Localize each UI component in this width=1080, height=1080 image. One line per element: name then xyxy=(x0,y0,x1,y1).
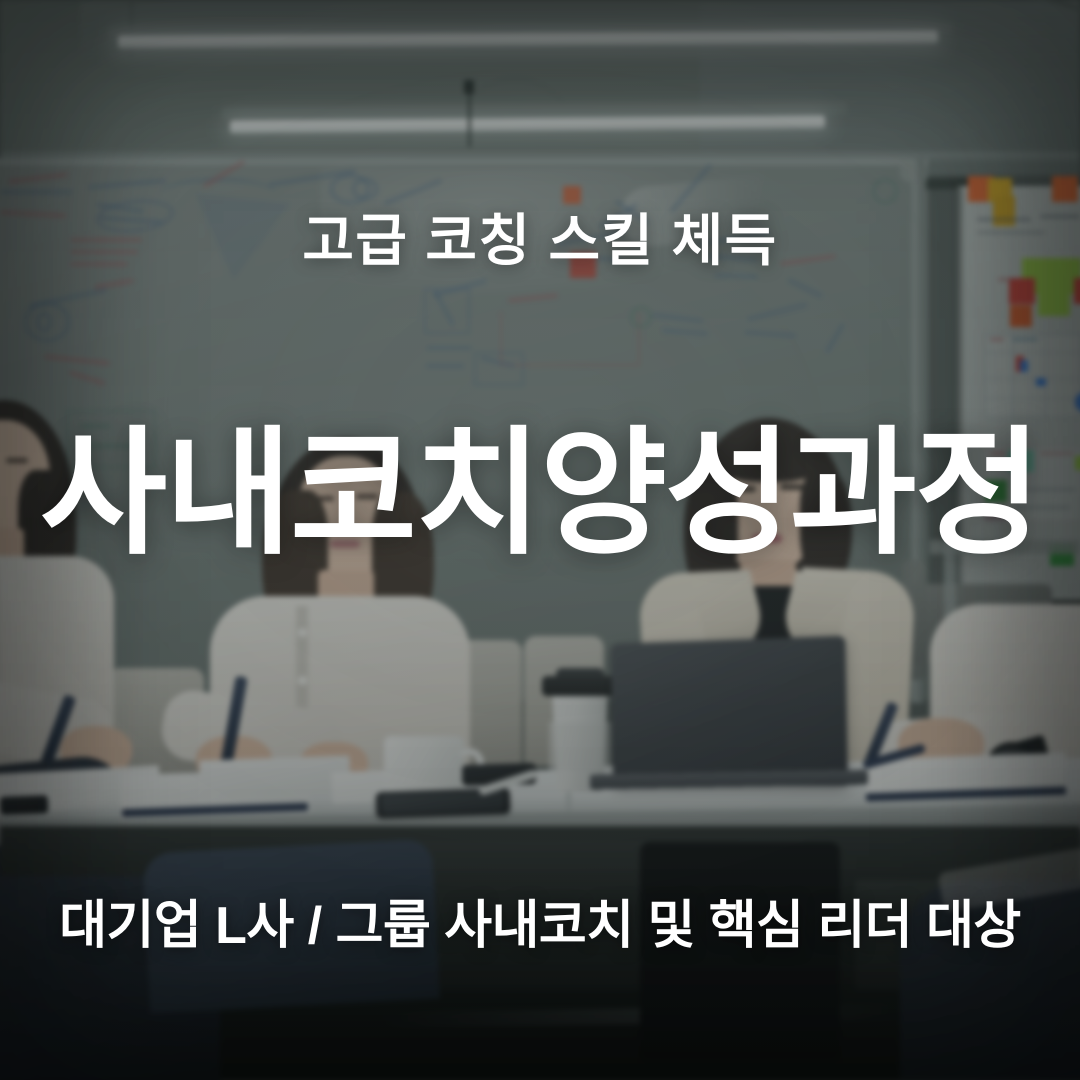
target-audience-text: 대기업 L사 / 그룹 사내코치 및 핵심 리더 대상 xyxy=(0,897,1080,957)
headline-title: 사내코치양성과정 xyxy=(0,422,1080,567)
poster-root: 고급 코칭 스킬 체득 사내코치양성과정 대기업 L사 / 그룹 사내코치 및 … xyxy=(0,0,1080,1080)
eyebrow-text: 고급 코칭 스킬 체득 xyxy=(0,210,1080,273)
text-overlay: 고급 코칭 스킬 체득 사내코치양성과정 대기업 L사 / 그룹 사내코치 및 … xyxy=(0,0,1080,1080)
